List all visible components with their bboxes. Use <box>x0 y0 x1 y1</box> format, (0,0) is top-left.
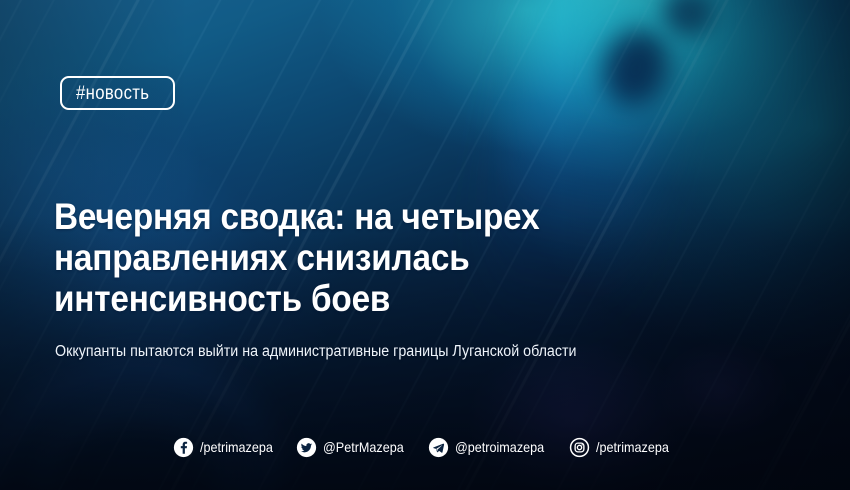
social-link-telegram[interactable]: @petroimazepa <box>428 437 554 458</box>
social-link-twitter[interactable]: @PetrMazepa <box>296 437 413 458</box>
social-handle-instagram: /petrimazepa <box>596 440 669 454</box>
telegram-icon <box>428 437 449 458</box>
page-title: Вечерняя сводка: на четырех направлениях… <box>54 196 684 319</box>
social-link-instagram[interactable]: /petrimazepa <box>569 437 677 458</box>
twitter-icon <box>296 437 317 458</box>
facebook-icon <box>173 437 194 458</box>
category-badge[interactable]: #новость <box>60 76 175 110</box>
subtitle: Оккупанты пытаются выйти на администрати… <box>55 342 754 362</box>
category-badge-label: #новость <box>76 84 149 103</box>
social-handle-facebook: /petrimazepa <box>200 440 273 454</box>
cover-content: #новость Вечерняя сводка: на четырех нап… <box>0 0 850 490</box>
social-handle-telegram: @petroimazepa <box>455 440 544 454</box>
news-cover-card: #новость Вечерняя сводка: на четырех нап… <box>0 0 850 490</box>
social-link-facebook[interactable]: /petrimazepa <box>173 437 281 458</box>
social-handle-twitter: @PetrMazepa <box>323 440 404 454</box>
instagram-icon <box>569 437 590 458</box>
social-links-row: /petrimazepa @PetrMazepa @petroimazepa <box>0 434 850 460</box>
